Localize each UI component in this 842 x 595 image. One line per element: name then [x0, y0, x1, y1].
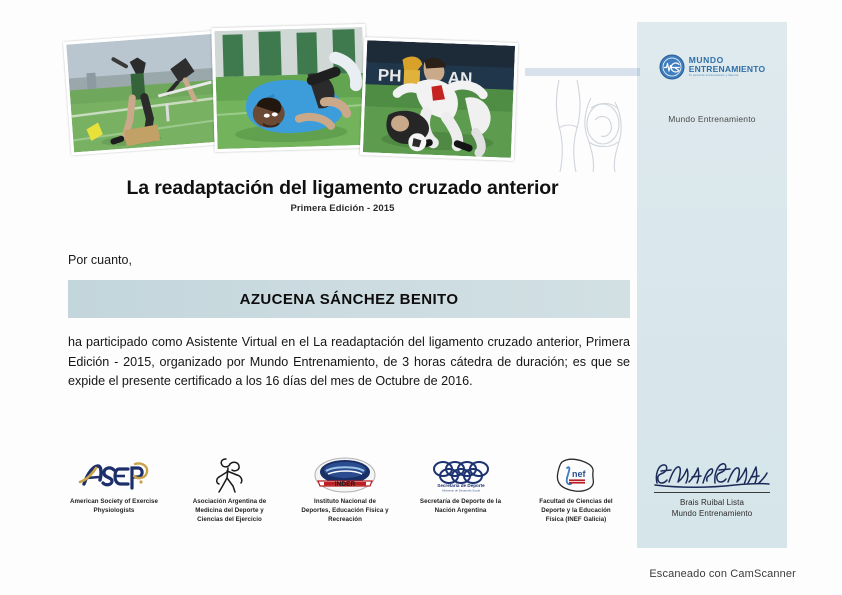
- svg-text:Secretaría de Deporte: Secretaría de Deporte: [437, 483, 485, 488]
- photo-strip: PH AN: [55, 18, 640, 173]
- signature-block: Brais Ruibal Lista Mundo Entrenamiento: [637, 457, 787, 520]
- caption-line: American Society of Exercise: [60, 498, 168, 507]
- aamdce-logo-icon: [176, 455, 284, 495]
- caption-line: Nación Argentina: [407, 507, 515, 516]
- svg-text:INDER: INDER: [335, 481, 356, 488]
- brand-word-entrenamiento: ENTRENAMIENTO: [689, 65, 766, 74]
- caption-line: Ciencias del Ejercicio: [176, 516, 284, 525]
- inder-logo-icon: INDER: [291, 455, 399, 495]
- logo-caption-aamdce: Asociación Argentina de Medicina del Dep…: [176, 498, 284, 524]
- logo-cell-secretaria-deporte: Secretaría de Deporte Ministerio de Desa…: [407, 455, 515, 516]
- mundo-entrenamiento-logo: MUNDO ENTRENAMIENTO Tu portal de entrena…: [637, 54, 787, 85]
- caption-line: Recreación: [291, 516, 399, 525]
- signature-organization: Mundo Entrenamiento: [637, 509, 787, 520]
- caption-line: Facultad de Ciencias del: [522, 498, 630, 507]
- svg-text:PH: PH: [378, 66, 402, 86]
- agility-training-photo: [63, 30, 227, 155]
- logo-cell-inder: INDER Instituto Nacional de Deportes, Ed…: [291, 455, 399, 524]
- svg-text:nef: nef: [572, 469, 587, 479]
- asep-logo-icon: [60, 455, 168, 495]
- sidebar-brand-caption: Mundo Entrenamiento: [637, 114, 787, 124]
- caption-line: Secretaría de Deporte de la: [407, 498, 515, 507]
- caption-line: Medicina del Deporte y: [176, 507, 284, 516]
- knee-anatomy-illustration: [525, 68, 640, 173]
- sponsor-logo-row: American Society of Exercise Physiologis…: [60, 455, 630, 535]
- logo-caption-inef-galicia: Facultad de Ciencias del Deporte y la Ed…: [522, 498, 630, 524]
- certificate-subtitle: Primera Edición - 2015: [55, 203, 630, 214]
- certificate-title: La readaptación del ligamento cruzado an…: [55, 177, 630, 200]
- recipient-name-banner: AZUCENA SÁNCHEZ BENITO: [68, 280, 630, 318]
- signature-name: Brais Ruibal Lista: [637, 498, 787, 509]
- brand-sidebar-panel: MUNDO ENTRENAMIENTO Tu portal de entrena…: [637, 22, 787, 548]
- inef-galicia-logo-icon: nef: [522, 455, 630, 495]
- me-monogram-icon: [659, 54, 685, 80]
- certificate-page: MUNDO ENTRENAMIENTO Tu portal de entrena…: [0, 0, 842, 595]
- caption-line: Física (INEF Galicia): [522, 516, 630, 525]
- caption-line: Physiologists: [60, 507, 168, 516]
- handwritten-signature-icon: [649, 457, 775, 491]
- logo-caption-secretaria-deporte: Secretaría de Deporte de la Nación Argen…: [407, 498, 515, 516]
- caption-line: Deportes, Educación Física y: [291, 507, 399, 516]
- recipient-name: AZUCENA SÁNCHEZ BENITO: [240, 291, 459, 308]
- logo-cell-asep: American Society of Exercise Physiologis…: [60, 455, 168, 516]
- por-cuanto-label: Por cuanto,: [68, 253, 132, 267]
- brand-word-mundo: MUNDO: [689, 56, 766, 65]
- football-tackle-photo: PH AN: [360, 37, 518, 161]
- logo-caption-inder: Instituto Nacional de Deportes, Educació…: [291, 498, 399, 524]
- logo-cell-inef-galicia: nef Facultad de Ciencias del Deporte y l…: [522, 455, 630, 524]
- svg-text:Ministerio de Desarrollo Socia: Ministerio de Desarrollo Social: [442, 488, 480, 492]
- camscanner-watermark: Escaneado con CamScanner: [649, 568, 796, 580]
- brand-tagline: Tu portal de entrenamiento y deporte: [689, 75, 766, 78]
- logo-cell-aamdce: Asociación Argentina de Medicina del Dep…: [176, 455, 284, 524]
- caption-line: Asociación Argentina de: [176, 498, 284, 507]
- caption-line: Deporte y la Educación: [522, 507, 630, 516]
- logo-caption-asep: American Society of Exercise Physiologis…: [60, 498, 168, 516]
- certificate-body-text: ha participado como Asistente Virtual en…: [68, 333, 630, 392]
- signature-rule: [654, 492, 770, 493]
- secretaria-deporte-logo-icon: Secretaría de Deporte Ministerio de Desa…: [407, 455, 515, 495]
- injured-player-photo: [211, 24, 368, 152]
- caption-line: Instituto Nacional de: [291, 498, 399, 507]
